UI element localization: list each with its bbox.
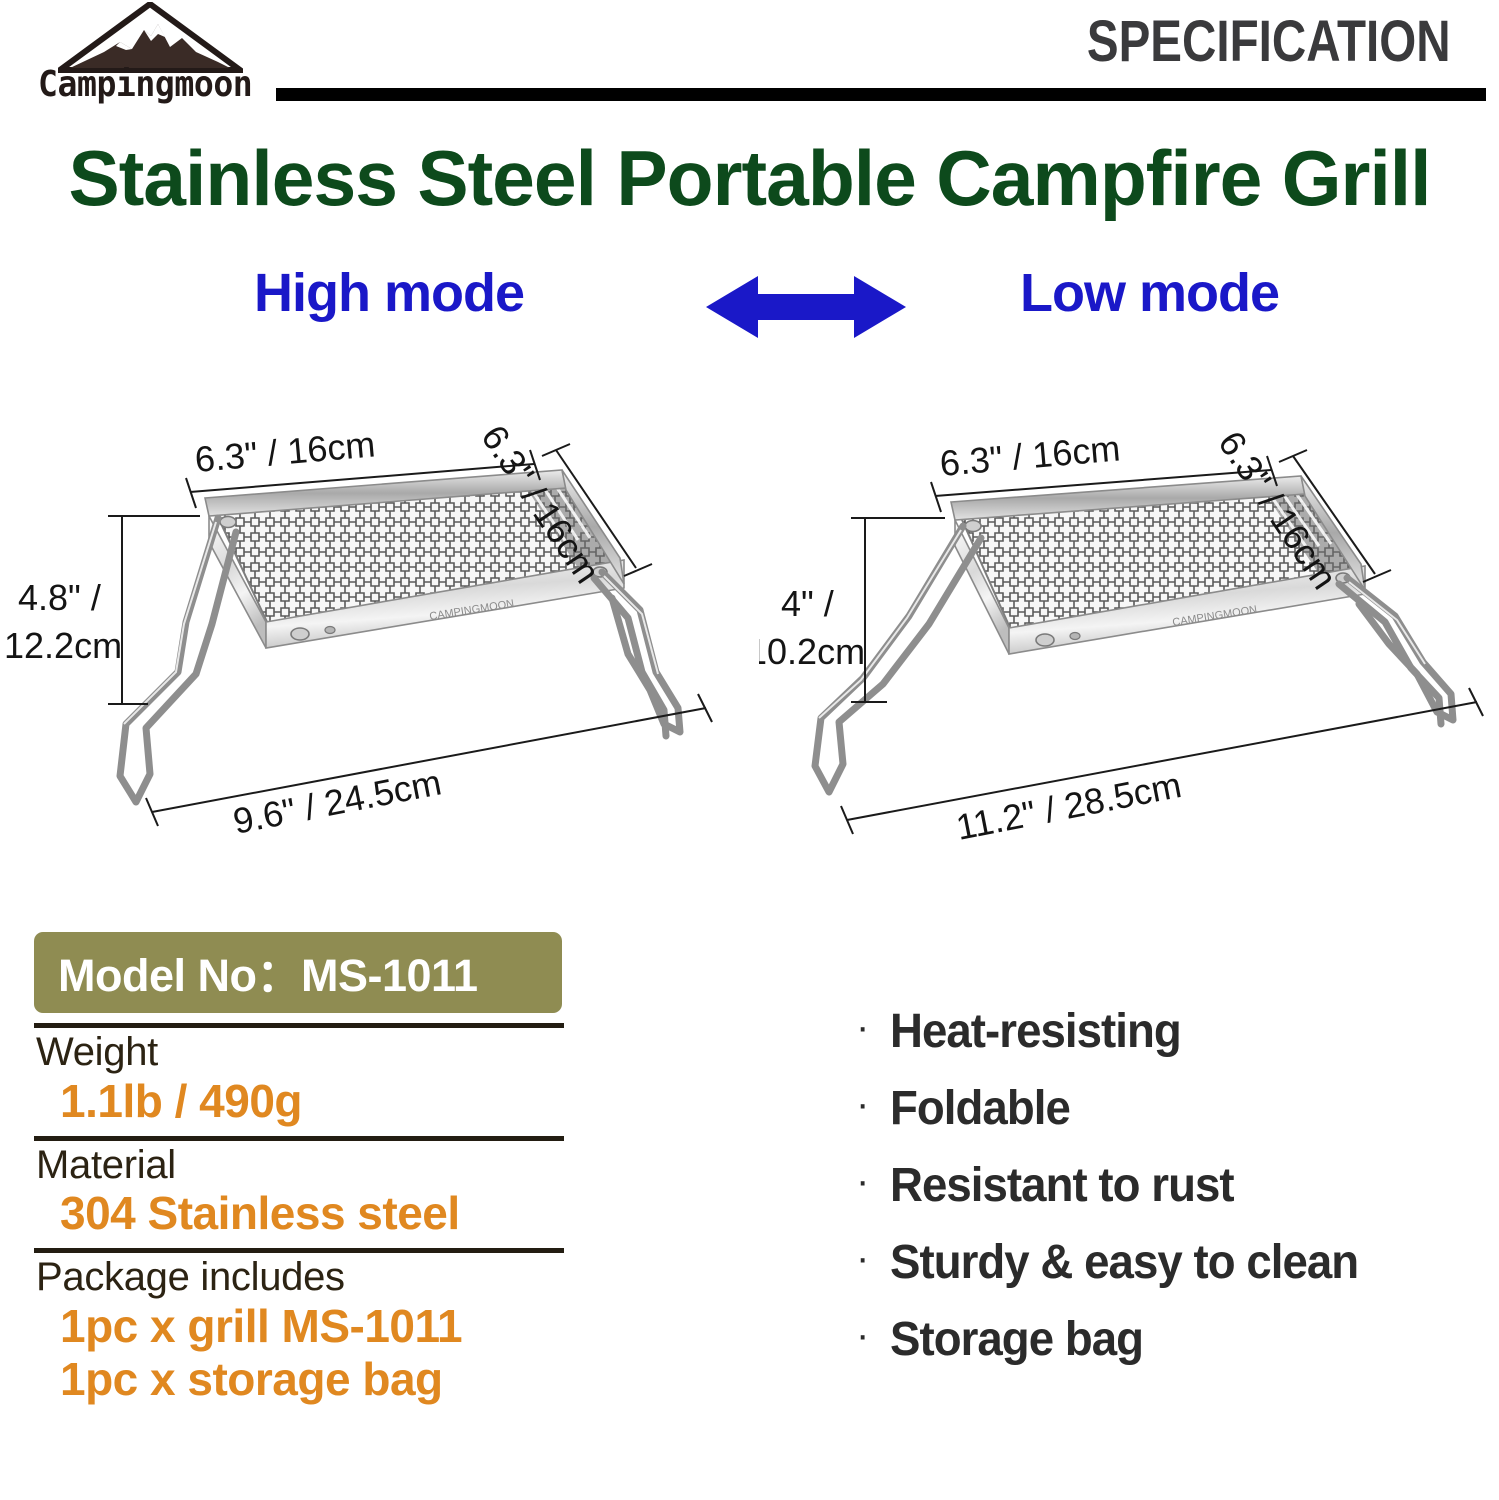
spec-divider — [34, 1248, 564, 1253]
bullet-icon: · — [856, 1085, 890, 1123]
header-divider — [276, 88, 1486, 101]
specification-heading: SPECIFICATION — [1087, 8, 1451, 75]
dim-depth-label: 9.6" / 24.5cm — [230, 761, 445, 841]
spec-key-material: Material — [34, 1143, 564, 1188]
feature-label: Resistant to rust — [890, 1162, 1234, 1210]
list-item: · Foldable — [856, 1085, 1496, 1133]
bullet-icon: · — [856, 1239, 890, 1277]
dim-height-label-line1: 4.8" / — [18, 577, 101, 618]
high-mode-label: High mode — [254, 262, 524, 324]
feature-label: Sturdy & easy to clean — [890, 1239, 1358, 1287]
dim-width-front-label: 6.3" / 16cm — [193, 423, 377, 480]
bullet-icon: · — [856, 1162, 890, 1200]
product-title: Stainless Steel Portable Campfire Grill — [11, 133, 1488, 224]
spec-key-weight: Weight — [34, 1030, 564, 1075]
spec-value-package-2: 1pc x storage bag — [34, 1353, 564, 1406]
double-arrow-horizontal-icon — [706, 276, 906, 338]
feature-label: Storage bag — [890, 1316, 1143, 1364]
spec-divider — [34, 1023, 564, 1028]
dim-height — [851, 518, 945, 702]
list-item: · Resistant to rust — [856, 1162, 1496, 1210]
dim-height-label-line1: 4" / — [781, 583, 834, 624]
bullet-icon: · — [856, 1316, 890, 1354]
high-mode-grill-diagram: CAMPINGMOON 6.3" / 16cm 6.3" / 16cm — [0, 372, 740, 902]
spec-key-package: Package includes — [34, 1255, 564, 1300]
dim-height-label-line2: 12.2cm — [4, 625, 122, 666]
spec-value-package-1: 1pc x grill MS-1011 — [34, 1300, 564, 1353]
list-item: · Heat-resisting — [856, 1008, 1496, 1056]
dim-height-label-line2: 10.2cm — [759, 631, 865, 672]
feature-label: Heat-resisting — [890, 1008, 1181, 1056]
brand-logo: Campingmoon — [22, 2, 272, 114]
low-mode-grill-diagram: CAMPINGMOON 6.3" / 16cm 6.3" / 16cm — [759, 372, 1499, 902]
mode-comparison-row: High mode Low mode — [0, 262, 1499, 362]
spec-divider — [34, 1136, 564, 1141]
spec-value-weight: 1.1lb / 490g — [34, 1075, 564, 1128]
spec-value-material: 304 Stainless steel — [34, 1187, 564, 1240]
bullet-icon: · — [856, 1008, 890, 1046]
high-mode-grill-drawing: CAMPINGMOON 6.3" / 16cm 6.3" / 16cm — [0, 372, 740, 902]
specification-table: Model No：MS-1011 Weight 1.1lb / 490g Mat… — [34, 932, 564, 1406]
dim-depth-label: 11.2" / 28.5cm — [953, 764, 1185, 848]
brand-wordmark: Campingmoon — [38, 64, 252, 105]
list-item: · Sturdy & easy to clean — [856, 1239, 1496, 1287]
model-number-banner: Model No：MS-1011 — [34, 932, 562, 1013]
low-mode-label: Low mode — [1020, 262, 1279, 324]
dim-depth — [841, 688, 1483, 834]
page-header: Campingmoon SPECIFICATION — [0, 0, 1499, 125]
feature-list: · Heat-resisting · Foldable · Resistant … — [856, 1008, 1496, 1393]
feature-label: Foldable — [890, 1085, 1070, 1133]
low-mode-grill-drawing: CAMPINGMOON 6.3" / 16cm 6.3" / 16cm — [759, 372, 1499, 902]
dim-width-front-label: 6.3" / 16cm — [938, 427, 1122, 484]
list-item: · Storage bag — [856, 1316, 1496, 1364]
